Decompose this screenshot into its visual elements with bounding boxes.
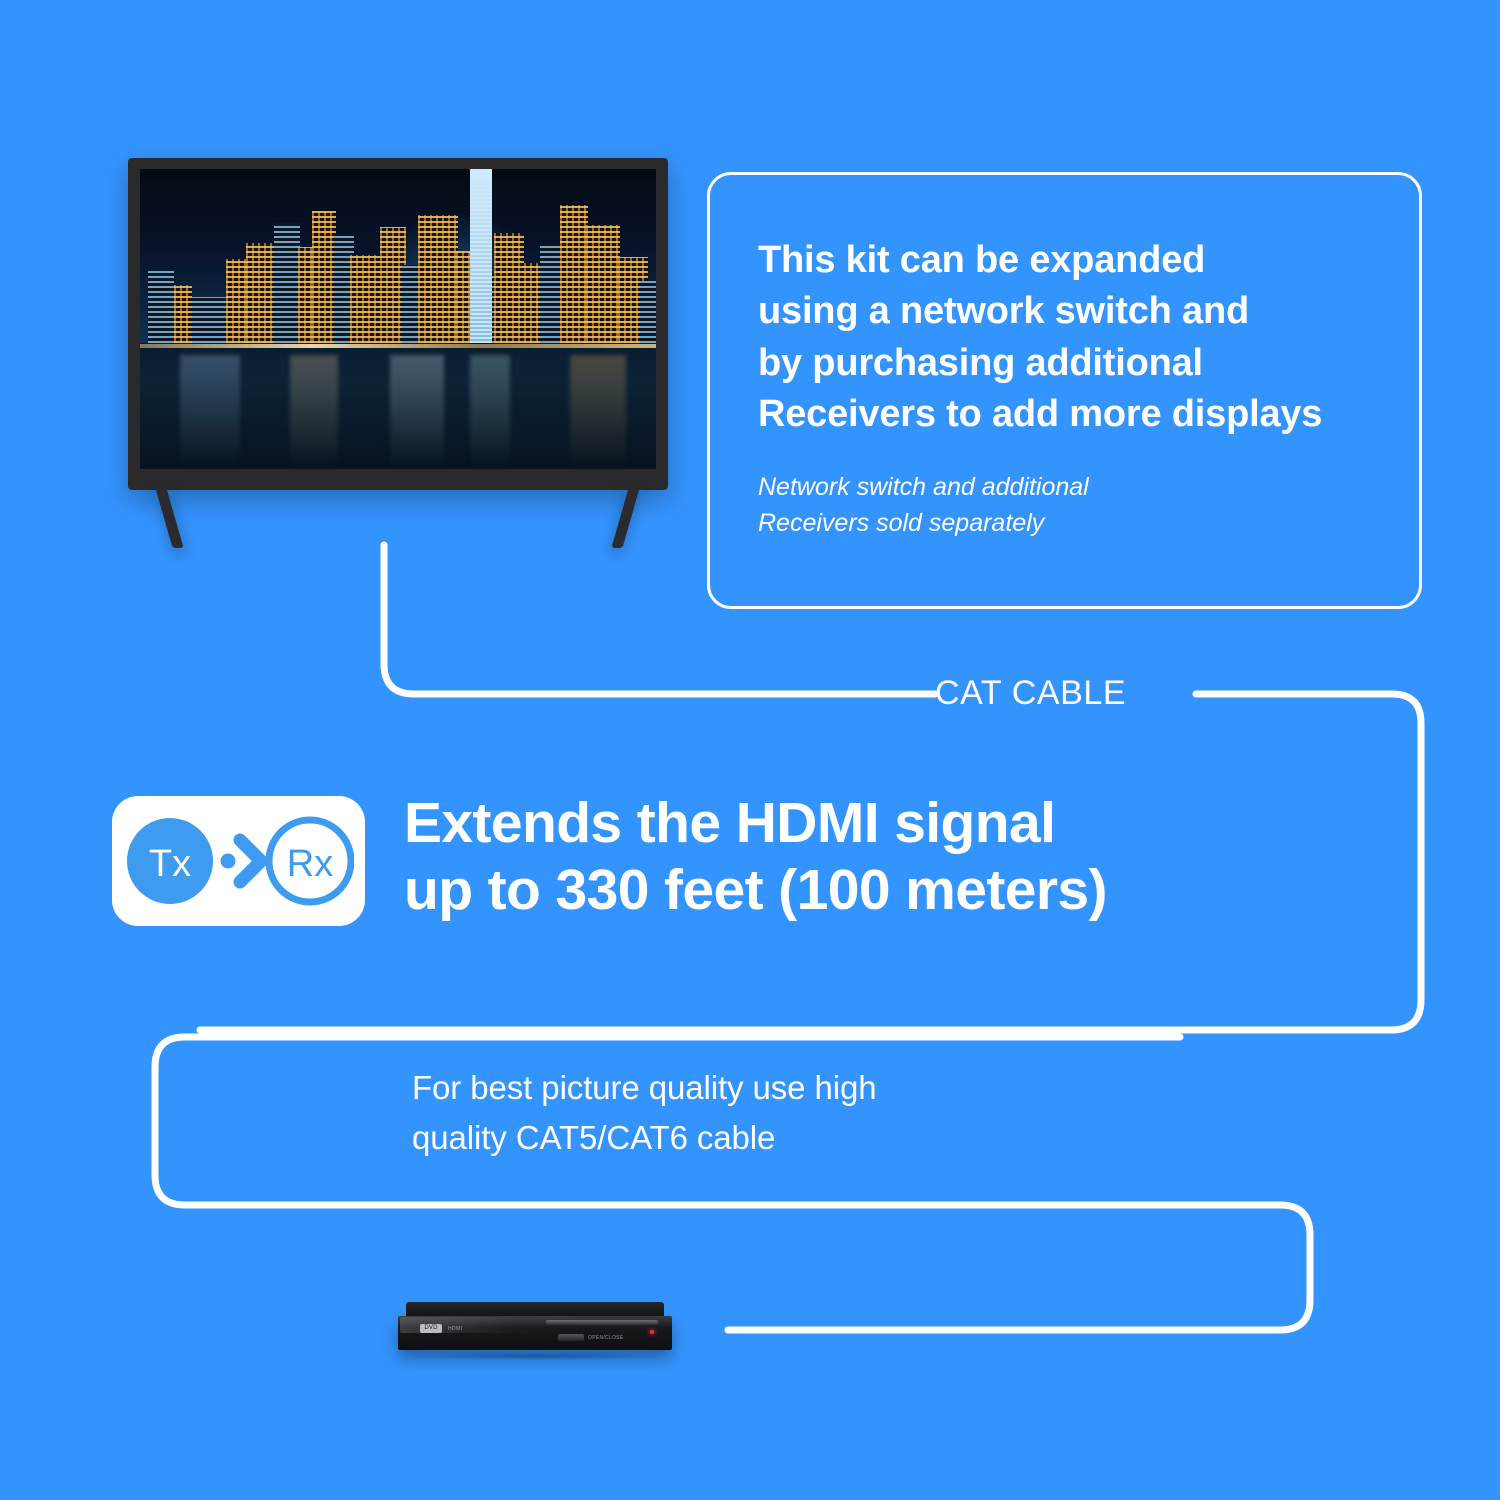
tv-display xyxy=(128,158,668,548)
heading-line-1: This kit can be expanded xyxy=(758,239,1205,281)
expansion-callout-heading: This kit can be expanded using a network… xyxy=(758,235,1379,440)
cable-quality-line-1: For best picture quality use high xyxy=(412,1069,876,1106)
screen-shoreline xyxy=(140,344,656,348)
dvd-power-led-icon xyxy=(650,1330,654,1334)
dvd-hdmi-label: HDMI xyxy=(448,1326,462,1332)
heading-line-4: Receivers to add more displays xyxy=(758,393,1322,435)
heading-line-3: by purchasing additional xyxy=(758,342,1203,384)
dvd-disc-slot xyxy=(546,1320,658,1325)
cable-quality-text: For best picture quality use high qualit… xyxy=(412,1063,1172,1162)
txrx-icon: Tx Rx xyxy=(124,806,354,916)
headline-block: Extends the HDMI signal up to 330 feet (… xyxy=(404,790,1354,925)
dvd-logo: DVD xyxy=(420,1324,442,1333)
headline-line-2: up to 330 feet (100 meters) xyxy=(404,858,1107,922)
infographic-canvas: This kit can be expanded using a network… xyxy=(0,0,1500,1500)
note-line-2: Receivers sold separately xyxy=(758,509,1044,537)
cable-quality-line-2: quality CAT5/CAT6 cable xyxy=(412,1119,775,1156)
expansion-callout-box: This kit can be expanded using a network… xyxy=(707,172,1422,609)
bottom-to-dvd-path xyxy=(728,1205,1310,1330)
tv-stand-leg-left xyxy=(155,488,183,548)
dvd-player: DVD HDMI OPEN/CLOSE xyxy=(398,1302,672,1358)
signal-dot-icon xyxy=(220,854,235,869)
cable-quality-callout: For best picture quality use high qualit… xyxy=(412,1063,1172,1162)
dvd-tray-label: OPEN/CLOSE xyxy=(588,1335,624,1341)
heading-line-2: using a network switch and xyxy=(758,290,1249,332)
note-line-1: Network switch and additional xyxy=(758,473,1089,501)
expansion-callout-note: Network switch and additional Receivers … xyxy=(758,470,1379,541)
txrx-badge: Tx Rx xyxy=(112,796,365,926)
cat-cable-label: CAT CABLE xyxy=(935,674,1126,713)
dvd-player-shadow xyxy=(412,1352,662,1360)
headline: Extends the HDMI signal up to 330 feet (… xyxy=(404,790,1354,925)
headline-line-1: Extends the HDMI signal xyxy=(404,791,1055,855)
transmitter-label: Tx xyxy=(148,843,190,885)
signal-chevron-icon xyxy=(240,840,261,882)
tv-stand-leg-right xyxy=(611,488,639,548)
tv-bezel xyxy=(128,158,668,490)
tv-screen xyxy=(140,169,656,469)
dvd-tray-button[interactable] xyxy=(558,1334,584,1341)
receiver-label: Rx xyxy=(286,843,332,885)
